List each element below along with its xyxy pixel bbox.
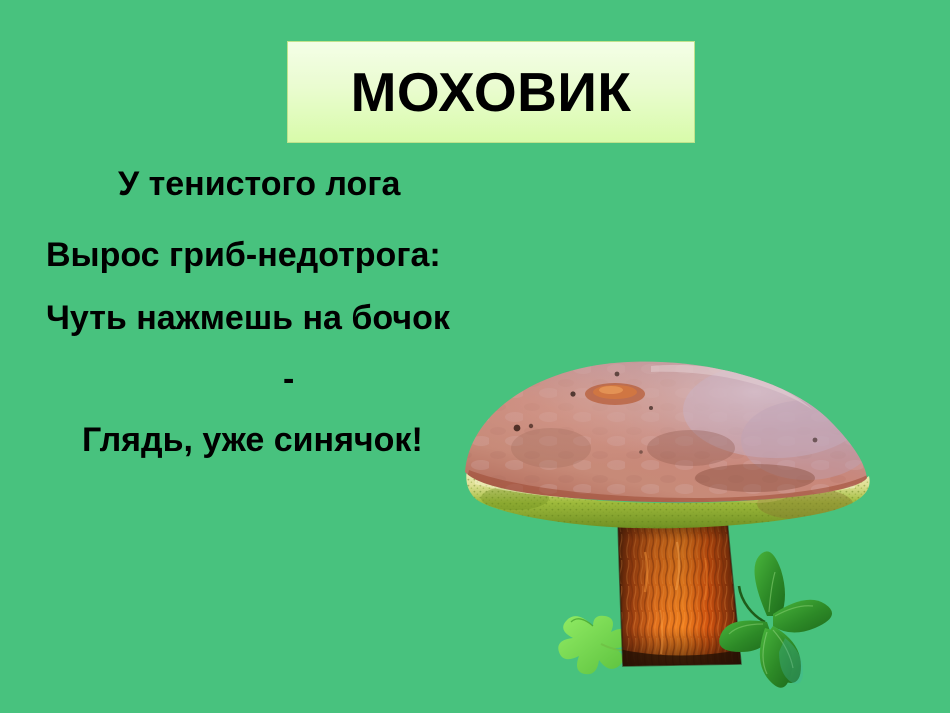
poem-line-1: У тенистого лога: [118, 167, 400, 201]
poem-line-4-dash: -: [283, 362, 294, 396]
poem-line-3: Чуть нажмешь на бочок: [46, 301, 450, 335]
title-plaque: МОХОВИК: [287, 41, 695, 143]
slide-canvas: МОХОВИК У тенистого лога Вырос гриб-недо…: [0, 0, 950, 713]
poem-line-2: Вырос гриб-недотрога:: [46, 238, 441, 272]
mushroom-illustration: [455, 352, 895, 692]
mushroom-cap: [455, 352, 895, 512]
clover-left-icon: [558, 616, 631, 675]
page-title: МОХОВИК: [351, 65, 632, 120]
poem-line-5: Глядь, уже синячок!: [82, 423, 423, 457]
